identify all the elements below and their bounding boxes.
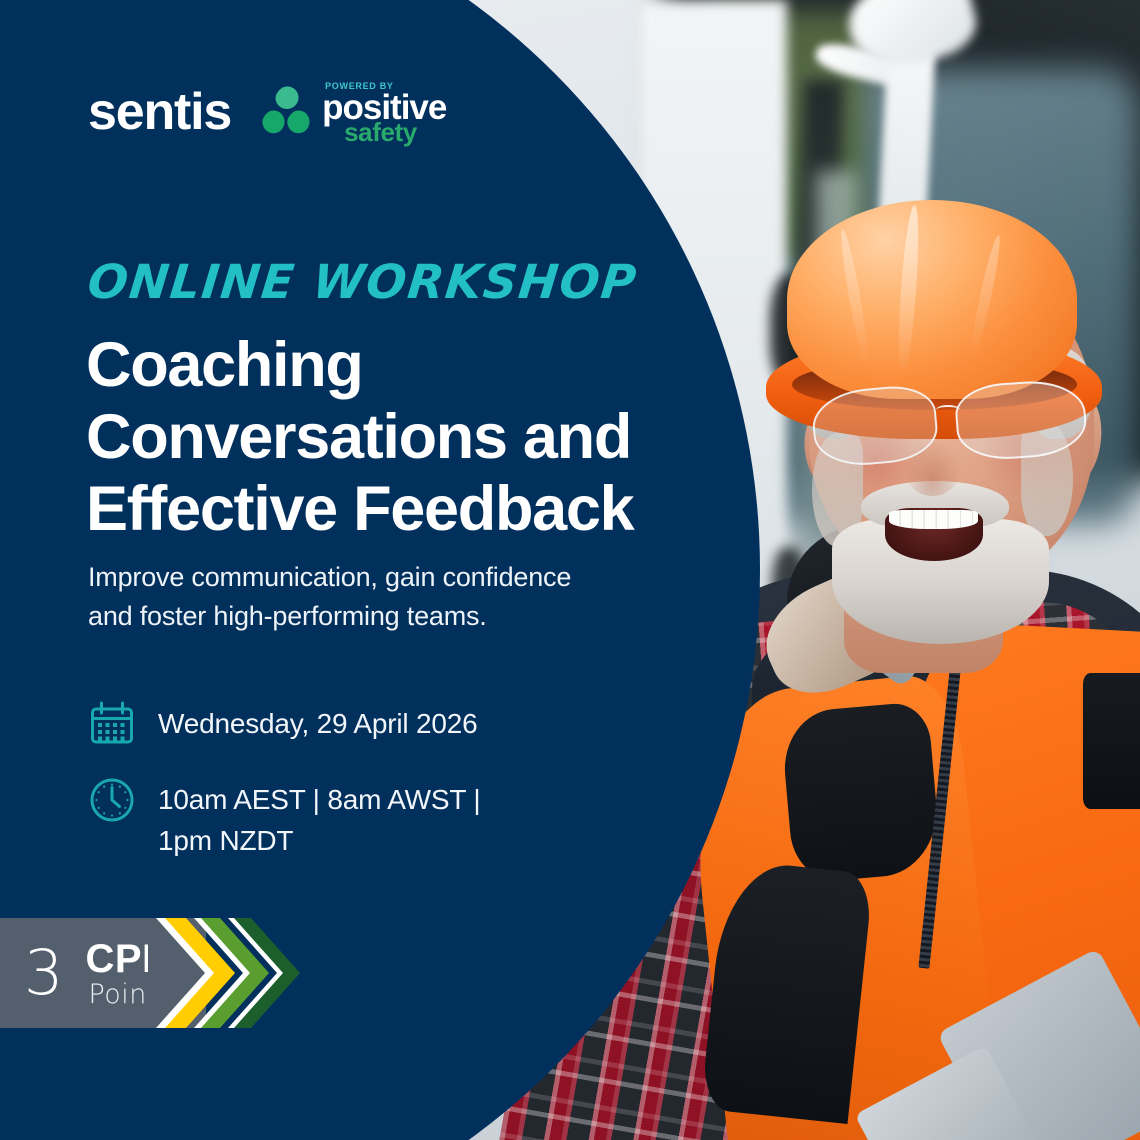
calendar-icon: [88, 700, 136, 748]
positive-safety-lockup: POWERED BY positive safety: [257, 80, 446, 144]
promo-graphic: sentis POWERED BY positive safety ONLINE…: [0, 0, 1140, 1140]
safety-wordmark: safety: [344, 120, 446, 145]
subheadline: Improve communication, gain confidence a…: [88, 558, 571, 636]
cpd-chevron-group-icon: [148, 918, 303, 1028]
event-time-line-2: 1pm NZDT: [158, 821, 480, 862]
content-layer: sentis POWERED BY positive safety ONLINE…: [0, 0, 1140, 1140]
eyebrow-label: ONLINE WORKSHOP: [85, 255, 640, 310]
event-time-row: 10am AEST | 8am AWST | 1pm NZDT: [88, 776, 480, 861]
logo-lockup: sentis POWERED BY positive safety: [88, 80, 446, 144]
event-time-line-1: 10am AEST | 8am AWST |: [158, 780, 480, 821]
subhead-line-1: Improve communication, gain confidence: [88, 558, 571, 597]
event-details: Wednesday, 29 April 2026: [88, 700, 480, 889]
page-title: Coaching Conversations and Effective Fee…: [86, 330, 633, 545]
positive-safety-text: POWERED BY positive safety: [322, 80, 446, 144]
cpd-points-number: 3: [24, 942, 63, 1004]
headline-line-2: Conversations and: [86, 402, 633, 474]
event-date-text: Wednesday, 29 April 2026: [158, 700, 478, 745]
cpd-points-badge: 3 CPD Points: [0, 918, 300, 1028]
subhead-line-2: and foster high-performing teams.: [88, 597, 571, 636]
clock-icon: [88, 776, 136, 824]
three-droplet-mark-icon: [257, 85, 313, 139]
event-date-row: Wednesday, 29 April 2026: [88, 700, 480, 748]
event-time-text: 10am AEST | 8am AWST | 1pm NZDT: [158, 776, 480, 861]
headline-line-3: Effective Feedback: [86, 474, 633, 546]
headline-line-1: Coaching: [86, 330, 633, 402]
sentis-wordmark: sentis: [88, 86, 231, 138]
